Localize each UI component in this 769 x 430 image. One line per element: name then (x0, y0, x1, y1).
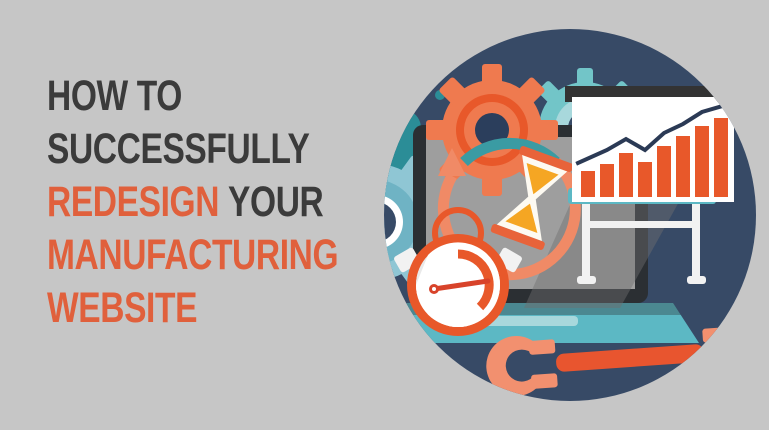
bar (657, 146, 671, 197)
headline-word-your (219, 178, 228, 226)
bar (581, 171, 595, 197)
illustration (340, 0, 769, 430)
headline-line-4: MANUFACTURING (47, 233, 281, 278)
headline-word-your-text: YOUR (228, 178, 323, 226)
headline-block: HOW TO SUCCESSFULLY REDESIGN YOUR MANUFA… (47, 74, 347, 339)
headline-line-3: REDESIGN YOUR (47, 180, 281, 225)
bar (600, 164, 614, 197)
headline-word-redesign: REDESIGN (47, 178, 219, 226)
headline-line-5: WEBSITE (47, 286, 281, 331)
headline-line-1: HOW TO (47, 74, 281, 119)
bar (619, 153, 633, 197)
bar (695, 126, 709, 197)
headline-line-2: SUCCESSFULLY (47, 127, 281, 172)
bar (714, 118, 728, 197)
board-paper (572, 97, 734, 202)
bar (676, 136, 690, 197)
poster-canvas: HOW TO SUCCESSFULLY REDESIGN YOUR MANUFA… (0, 0, 769, 430)
bar (638, 162, 652, 197)
